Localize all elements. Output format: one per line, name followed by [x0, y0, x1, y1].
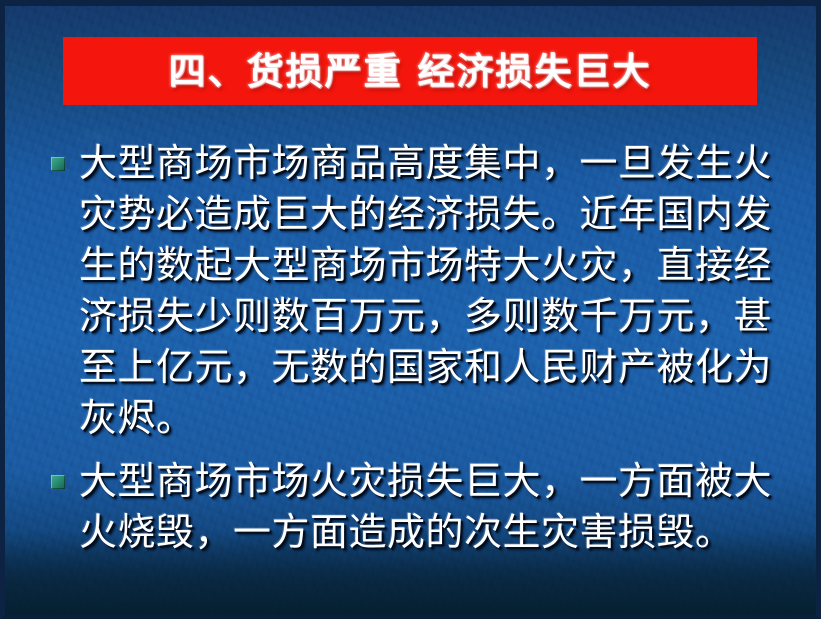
presentation-slide: 四、货损严重 经济损失巨大 大型商场市场商品高度集中，一旦发生火灾势必造成巨大的…	[0, 0, 821, 619]
square-bullet-icon	[51, 475, 65, 489]
square-bullet-icon	[51, 157, 65, 171]
title-banner: 四、货损严重 经济损失巨大	[63, 37, 757, 105]
bullet-item-text: 大型商场市场火灾损失巨大，一方面被大火烧毁，一方面造成的次生灾害损毁。	[79, 456, 785, 558]
slide-body: 大型商场市场商品高度集中，一旦发生火灾势必造成巨大的经济损失。近年国内发生的数起…	[40, 138, 785, 558]
bullet-item: 大型商场市场商品高度集中，一旦发生火灾势必造成巨大的经济损失。近年国内发生的数起…	[40, 138, 785, 444]
bullet-item: 大型商场市场火灾损失巨大，一方面被大火烧毁，一方面造成的次生灾害损毁。	[40, 456, 785, 558]
slide-title: 四、货损严重 经济损失巨大	[169, 53, 652, 90]
bullet-item-text: 大型商场市场商品高度集中，一旦发生火灾势必造成巨大的经济损失。近年国内发生的数起…	[79, 138, 785, 444]
